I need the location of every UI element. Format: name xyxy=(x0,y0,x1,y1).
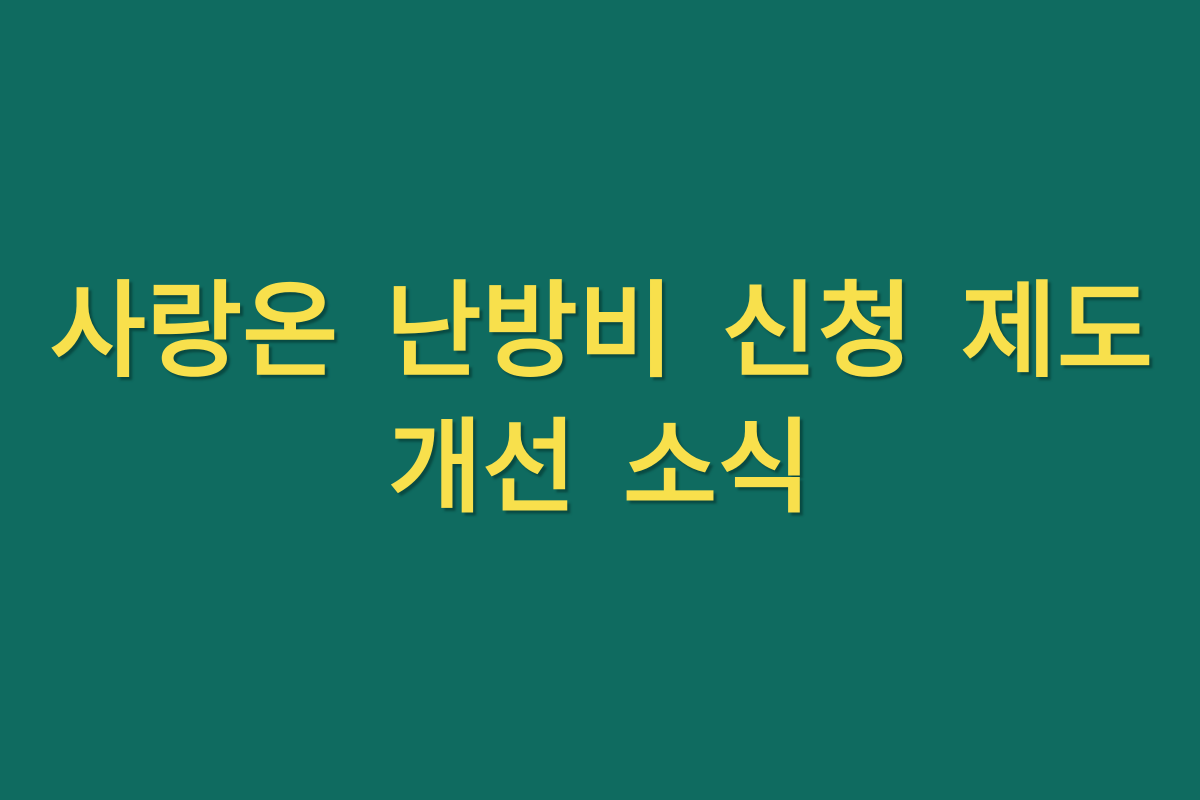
title-line-1: 사랑온 난방비 신청 제도 xyxy=(50,262,1150,401)
page-title: 사랑온 난방비 신청 제도 개선 소식 xyxy=(50,262,1150,538)
banner-background: 사랑온 난방비 신청 제도 개선 소식 xyxy=(0,0,1200,800)
title-line-2: 개선 소식 xyxy=(50,401,1150,538)
